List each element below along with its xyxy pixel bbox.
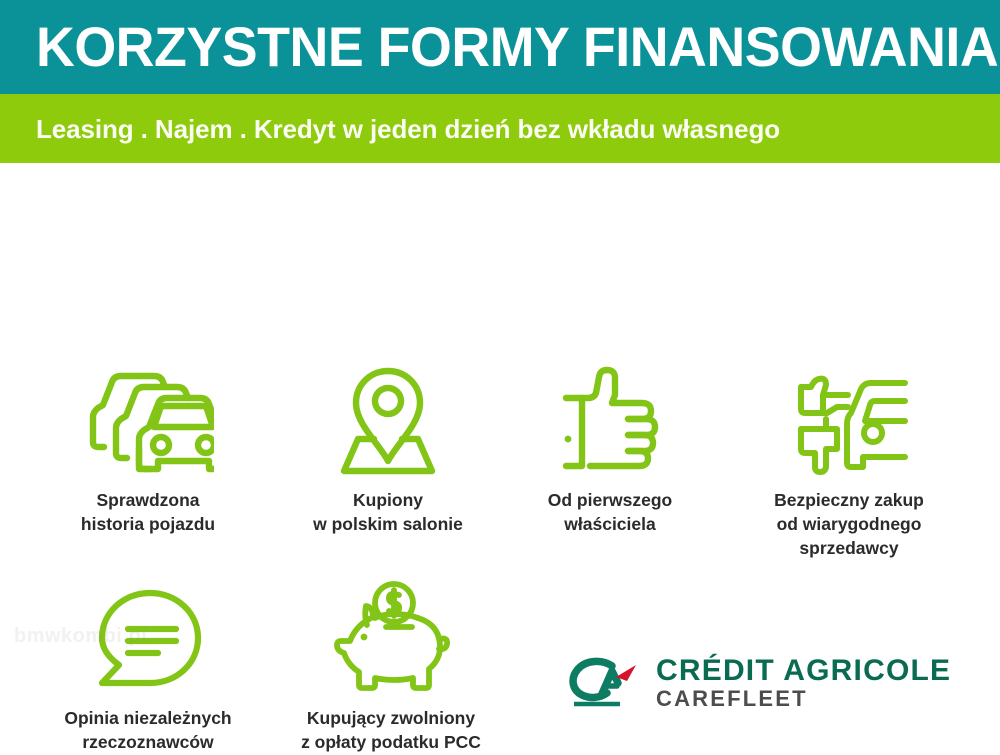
headline-band: KORZYSTNE FORMY FINANSOWANIA [0, 0, 1000, 94]
thumbs-car-icon [785, 367, 913, 479]
feature-item-opinia-niezaleznych-rzeczoznawcow: Opinia niezależnych rzeczoznawców [20, 581, 276, 755]
logo-text: CRÉDIT AGRICOLE CAREFLEET [656, 655, 951, 711]
page-subtitle: Leasing . Najem . Kredyt w jeden dzień b… [36, 116, 780, 142]
subheadline-band: Leasing . Najem . Kredyt w jeden dzień b… [0, 94, 1000, 163]
feature-caption: Bezpieczny zakup od wiarygodnego sprzeda… [728, 489, 970, 560]
feature-grid: Sprawdzona historia pojazdu Kupiony w po… [0, 163, 1000, 654]
map-pin-icon [336, 361, 440, 479]
feature-caption: Od pierwszego właściciela [508, 489, 712, 537]
feature-item-kupiony-w-polskim-salonie: Kupiony w polskim salonie [282, 359, 494, 537]
piggy-bank-icon [330, 581, 452, 697]
credit-agricole-mark [568, 657, 640, 709]
credit-agricole-carefleet-logo: CRÉDIT AGRICOLE CAREFLEET [568, 655, 951, 711]
cars-stack-icon [82, 361, 214, 479]
feature-item-od-pierwszego-wlasciciela: Od pierwszego właściciela [508, 359, 712, 537]
icon-container [282, 359, 494, 479]
icon-container [508, 359, 712, 479]
feature-caption: Kupiony w polskim salonie [282, 489, 494, 537]
logo-sub-brand-name: CAREFLEET [656, 687, 951, 712]
logo-brand-name: CRÉDIT AGRICOLE [656, 655, 951, 687]
feature-item-kupujacy-zwolniony-pcc: Kupujący zwolniony z opłaty podatku PCC [282, 581, 500, 755]
feature-caption: Opinia niezależnych rzeczoznawców [20, 707, 276, 755]
icon-container [282, 581, 500, 697]
feature-caption: Sprawdzona historia pojazdu [30, 489, 266, 537]
feature-caption: Kupujący zwolniony z opłaty podatku PCC [282, 707, 500, 755]
watermark: bmwkombi.pl [14, 625, 147, 648]
feature-item-sprawdzona-historia-pojazdu: Sprawdzona historia pojazdu [30, 359, 266, 537]
icon-container [30, 359, 266, 479]
feature-item-bezpieczny-zakup: Bezpieczny zakup od wiarygodnego sprzeda… [728, 359, 970, 560]
thumbs-up-icon [554, 363, 666, 479]
page-title: KORZYSTNE FORMY FINANSOWANIA [36, 19, 998, 75]
banner: KORZYSTNE FORMY FINANSOWANIA Leasing . N… [0, 0, 1000, 163]
icon-container [728, 359, 970, 479]
